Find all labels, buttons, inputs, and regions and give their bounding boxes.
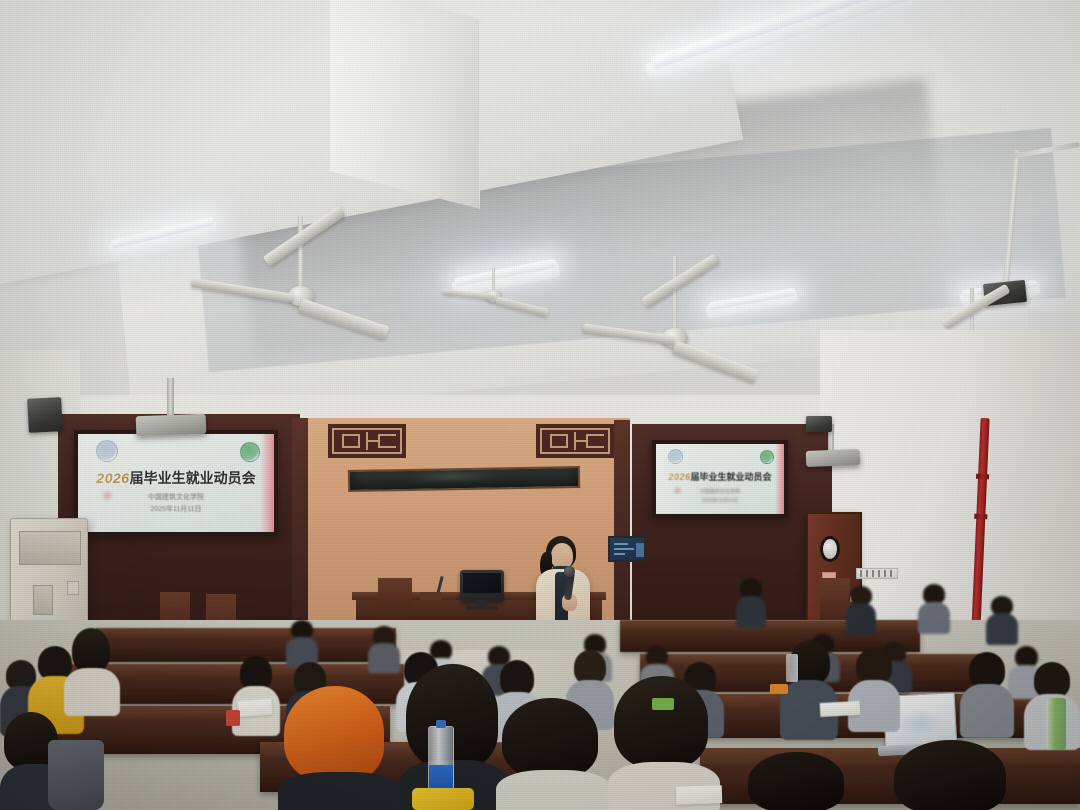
- notebook: [237, 699, 272, 717]
- lecture-hall-photo: 2026届毕业生就业动员会 中国建筑文化学院 2025年11月11日 2026届…: [0, 0, 1080, 810]
- notebook: [820, 701, 861, 717]
- audience-member: [846, 586, 876, 632]
- door-window-icon: [820, 536, 840, 562]
- led-banner: [348, 466, 580, 492]
- projector-pole-left: [167, 378, 174, 418]
- orange-hair: [284, 686, 384, 782]
- notebook: [676, 785, 723, 805]
- audience-member: [986, 596, 1018, 642]
- audience-member: [960, 652, 1014, 734]
- audience-member: [286, 620, 318, 664]
- bottle-cap: [436, 720, 447, 728]
- lattice-panel-left: [328, 424, 406, 458]
- audience-member: [848, 648, 900, 728]
- backpack: [48, 740, 104, 810]
- wall-switch-detail: [860, 570, 894, 577]
- water-bottle-small: [786, 654, 798, 682]
- desk-items: [420, 592, 442, 600]
- ac-badge: [67, 581, 79, 595]
- green-box: [652, 698, 674, 710]
- lattice-panel-right: [536, 424, 614, 458]
- department-emblem-green-icon-2: [760, 450, 774, 464]
- department-emblem-green-icon: [240, 442, 260, 462]
- audience-member: [496, 698, 612, 810]
- ceiling-fan-4: [452, 268, 562, 338]
- orange-item: [770, 684, 788, 694]
- podium-monitor: [460, 570, 504, 602]
- audience-member: [918, 584, 950, 632]
- projector-left: [136, 414, 207, 436]
- laptop-content: [898, 708, 943, 734]
- wall-speaker-left: [27, 397, 63, 433]
- ceiling-fan-2: [620, 256, 780, 376]
- right-projection-screen: 2026届毕业生就业动员会 中国建筑文化学院 2025年11月11日: [652, 440, 788, 518]
- projector-right: [806, 449, 861, 467]
- audience-member: [744, 752, 854, 810]
- red-cup: [226, 710, 240, 726]
- wall-speaker-right: [806, 416, 832, 432]
- wall-info-panel: [608, 536, 646, 562]
- audience-member-orange-hair: [278, 686, 402, 810]
- ac-display-panel: [33, 585, 53, 615]
- audience-member: [736, 578, 766, 626]
- snack-bag: [412, 788, 474, 810]
- audience-member: [888, 740, 1016, 810]
- monitor-base: [466, 606, 498, 610]
- microphone-head-icon: [564, 566, 575, 577]
- stage-wall-trim-left: [292, 418, 308, 630]
- stage-wall-trim-right: [614, 420, 630, 626]
- water-bottle-green: [1046, 698, 1066, 750]
- ceiling-fan-1: [236, 216, 396, 336]
- left-projection-screen: 2026届毕业生就业动员会 中国建筑文化学院 2025年11月11日: [74, 430, 278, 536]
- audience-member: [62, 628, 120, 712]
- stage-chair-3: [378, 578, 412, 618]
